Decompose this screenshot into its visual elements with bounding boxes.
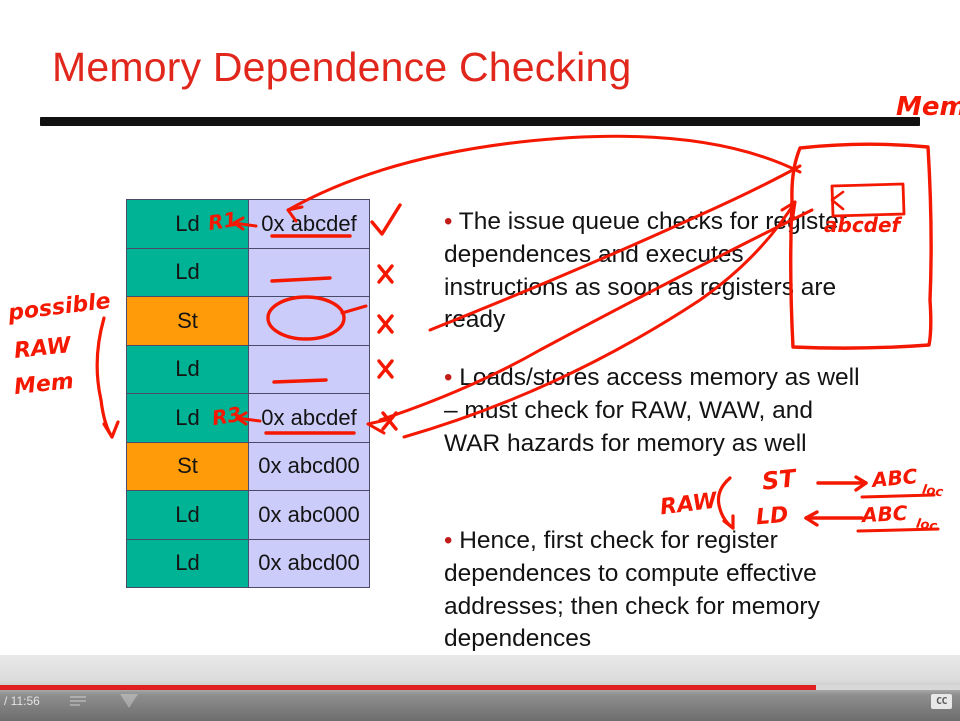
row-opcode: Ld: [127, 491, 249, 540]
table-body: Ld 0x abcdef Ld St Ld Ld 0x abcdef: [127, 200, 370, 588]
bullet-item: • Hence, first check for register depend…: [444, 525, 889, 656]
bullet-marker: •: [444, 364, 452, 391]
table-row: Ld 0x abcd00: [127, 539, 370, 588]
loc-load-label: loc: [915, 517, 938, 535]
video-player-controls: [0, 655, 960, 721]
row-address: [249, 297, 370, 346]
bullet-text: Hence, first check for register dependen…: [444, 527, 820, 652]
reg-r1-label: R1: [206, 207, 239, 235]
table-row: Ld 0x abcdef: [127, 394, 370, 443]
slide-canvas: Memory Dependence Checking Ld 0x abcdef …: [0, 0, 960, 655]
row-address: 0x abcdef: [249, 200, 370, 249]
table-row: Ld: [127, 248, 370, 297]
row-address: 0x abcdef: [249, 394, 370, 443]
row-address: [249, 345, 370, 394]
time-display: / 11:56: [4, 694, 40, 708]
row-opcode: St: [127, 442, 249, 491]
page-title: Memory Dependence Checking: [52, 44, 632, 91]
mem-label: Mem: [896, 92, 960, 122]
bullet-item: • The issue queue checks for register de…: [444, 206, 874, 337]
table-row: Ld 0x abcdef: [127, 200, 370, 249]
title-divider: [40, 117, 920, 126]
abc-loc-store-label: ABC: [871, 464, 918, 492]
table-row: St: [127, 297, 370, 346]
bullet-marker: •: [444, 208, 452, 235]
row-address: 0x abcd00: [249, 442, 370, 491]
table-row: Ld 0x abc000: [127, 491, 370, 540]
bullet-item: • Loads/stores access memory as well – m…: [444, 362, 874, 460]
bullet-text: Loads/stores access memory as well – mus…: [444, 364, 860, 457]
row-address: [249, 248, 370, 297]
row-opcode: Ld: [127, 248, 249, 297]
row-opcode: Ld: [127, 345, 249, 394]
bullet-text: The issue queue checks for register depe…: [444, 208, 847, 333]
bullet-marker: •: [444, 527, 452, 554]
closed-captions-button[interactable]: CC: [931, 694, 952, 709]
screenshot-root: Memory Dependence Checking Ld 0x abcdef …: [0, 0, 960, 721]
reg-r3-label: R3: [210, 402, 243, 430]
instruction-queue-table: Ld 0x abcdef Ld St Ld Ld 0x abcdef: [126, 199, 370, 588]
row-opcode: St: [127, 297, 249, 346]
ld-label: LD: [755, 503, 789, 531]
row-address: 0x abcd00: [249, 539, 370, 588]
abc-loc-load-label: ABC: [861, 501, 908, 527]
progress-bar-track[interactable]: [0, 685, 960, 690]
loc-store-label: loc: [921, 483, 944, 501]
table-row: St 0x abcd00: [127, 442, 370, 491]
playlist-icon[interactable]: [70, 696, 86, 708]
row-address: 0x abc000: [249, 491, 370, 540]
st-label: ST: [761, 464, 797, 495]
row-opcode: Ld: [127, 539, 249, 588]
table-row: Ld: [127, 345, 370, 394]
mem-cell-label: abcdef: [824, 213, 900, 237]
progress-bar-played: [0, 685, 816, 690]
